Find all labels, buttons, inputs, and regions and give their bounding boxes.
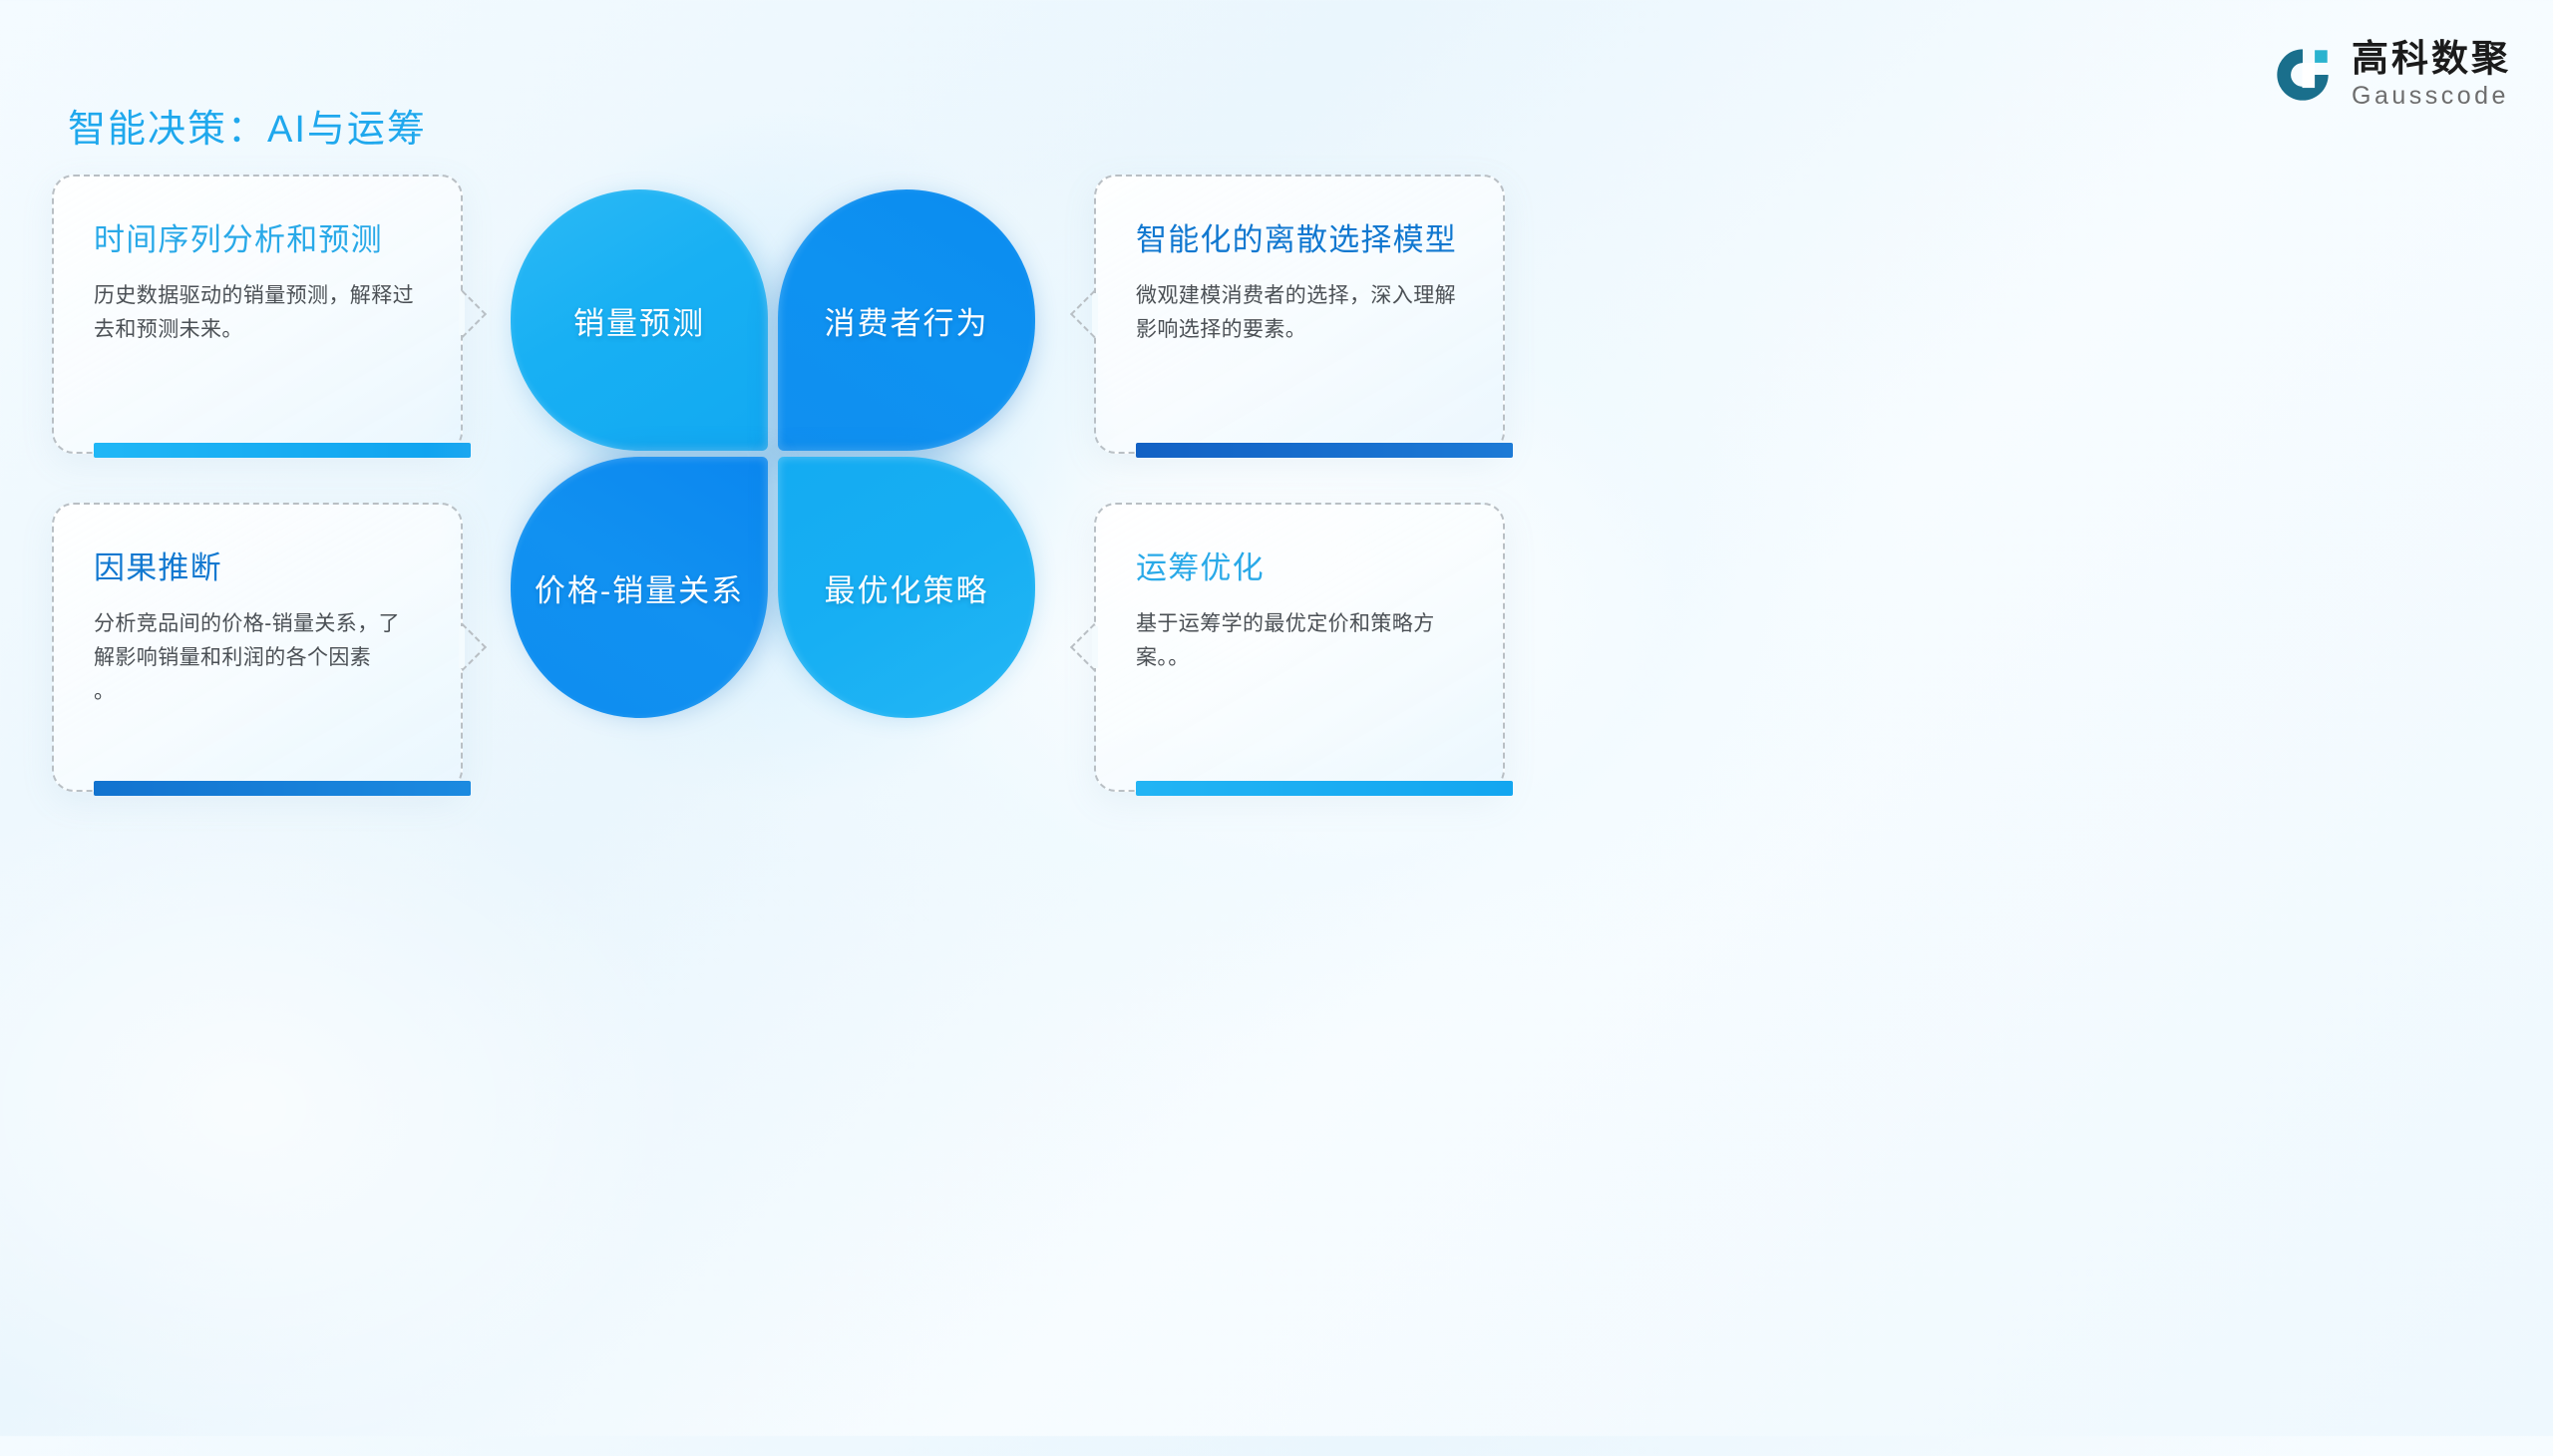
connector-arrow-icon <box>1070 290 1118 338</box>
card-title: 时间序列分析和预测 <box>94 214 421 259</box>
connector-arrow-icon <box>439 290 487 338</box>
petal-price-volume-relation[interactable]: 价格-销量关系 <box>511 457 768 718</box>
petal-optimization-strategy[interactable]: 最优化策略 <box>778 457 1035 718</box>
gausscode-logo-icon <box>2272 44 2334 106</box>
card-accent-bar <box>94 443 471 458</box>
card-body: 历史数据驱动的销量预测，解释过去和预测未来。 <box>94 279 421 347</box>
connector-arrow-icon <box>1070 623 1118 671</box>
flower-halo <box>423 108 1125 806</box>
info-card-time-series[interactable]: 时间序列分析和预测 历史数据驱动的销量预测，解释过去和预测未来。 <box>52 175 463 454</box>
petal-consumer-behavior[interactable]: 消费者行为 <box>778 189 1035 451</box>
flower-diagram: 销量预测 消费者行为 价格-销量关系 最优化策略 <box>511 189 1037 718</box>
card-accent-bar <box>1136 443 1513 458</box>
petal-label: 销量预测 <box>573 298 705 343</box>
card-title: 智能化的离散选择模型 <box>1136 214 1463 259</box>
logo-text-cn: 高科数聚 <box>2352 40 2511 77</box>
petal-sales-forecast[interactable]: 销量预测 <box>511 189 768 451</box>
logo-text-en: Gausscode <box>2352 84 2511 109</box>
card-accent-bar <box>94 781 471 796</box>
info-card-operations-research[interactable]: 运筹优化 基于运筹学的最优定价和策略方案。。 <box>1094 503 1505 792</box>
card-title: 运筹优化 <box>1136 543 1463 587</box>
info-card-discrete-choice[interactable]: 智能化的离散选择模型 微观建模消费者的选择，深入理解影响选择的要素。 <box>1094 175 1505 454</box>
card-body: 微观建模消费者的选择，深入理解影响选择的要素。 <box>1136 279 1463 347</box>
petal-label: 最优化策略 <box>825 565 989 610</box>
card-body: 基于运筹学的最优定价和策略方案。。 <box>1136 607 1463 675</box>
background-glow-left <box>0 758 698 1456</box>
brand-logo: 高科数聚 Gausscode <box>2272 40 2511 109</box>
page-title: 智能决策：AI与运筹 <box>68 98 427 153</box>
card-title: 因果推断 <box>94 543 421 587</box>
card-body: 分析竞品间的价格-销量关系，了解影响销量和利润的各个因素 。 <box>94 607 421 709</box>
petal-label: 价格-销量关系 <box>535 565 744 610</box>
petal-label: 消费者行为 <box>825 298 989 343</box>
info-card-causal-inference[interactable]: 因果推断 分析竞品间的价格-销量关系，了解影响销量和利润的各个因素 。 <box>52 503 463 792</box>
connector-arrow-icon <box>439 623 487 671</box>
card-accent-bar <box>1136 781 1513 796</box>
